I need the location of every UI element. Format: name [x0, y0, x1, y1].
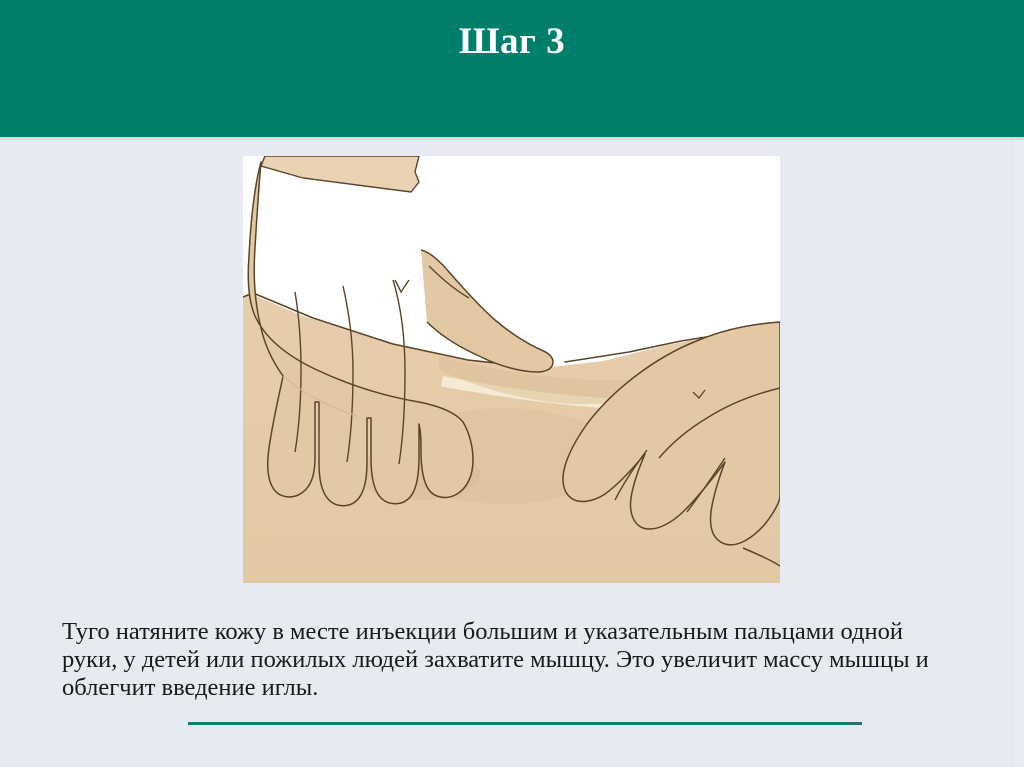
illustration-image — [243, 156, 780, 583]
page-edge-line — [1012, 140, 1013, 767]
illustration-svg — [243, 156, 780, 583]
header-underline — [0, 137, 1024, 140]
page-title: Шаг 3 — [0, 22, 1024, 63]
page-right-margin — [1013, 140, 1024, 767]
bottom-divider — [188, 722, 862, 725]
caption-text: Туго натяните кожу в месте инъекции боль… — [62, 618, 962, 702]
slide: Шаг 3 — [0, 0, 1024, 767]
